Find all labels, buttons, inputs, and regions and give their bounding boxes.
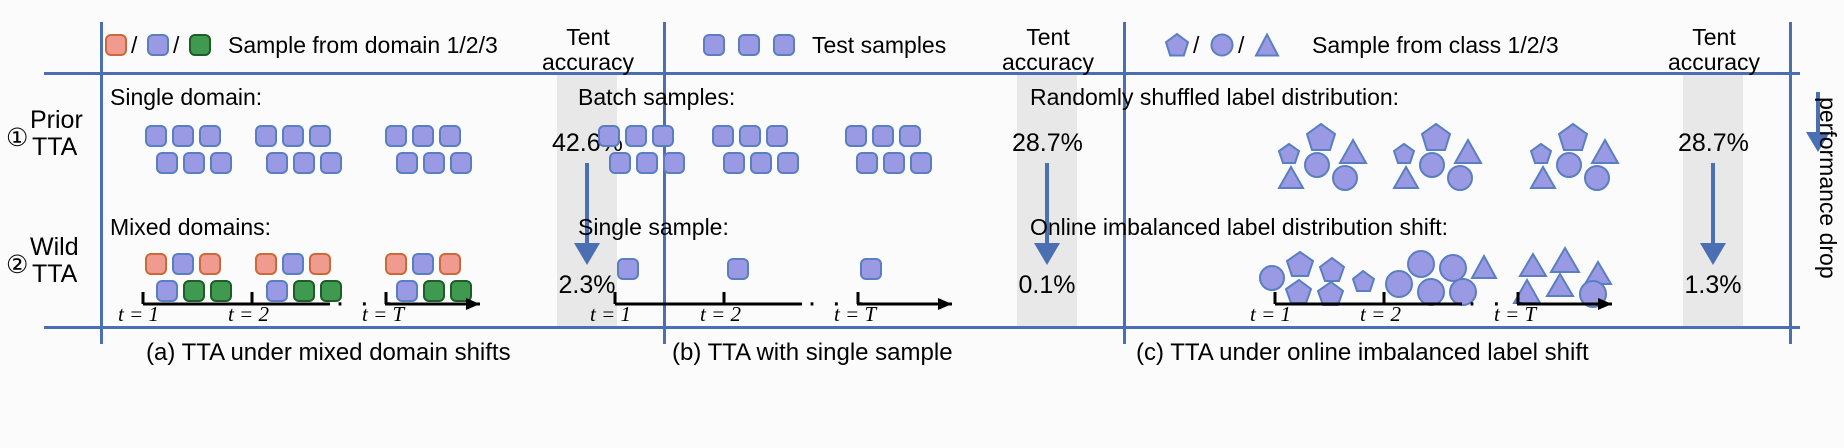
legend-label-a: Sample from domain 1/2/3 <box>228 33 498 57</box>
accuracy-header-b-line2: accuracy <box>999 50 1097 74</box>
panel-b-row2-sample-t2 <box>727 258 749 280</box>
panel-a-row1-title: Single domain: <box>110 85 262 109</box>
panel-b-row1-title: Batch samples: <box>578 85 735 109</box>
row-label-prior-line1: Prior <box>30 107 83 133</box>
legend-separator-a2: / <box>173 33 179 57</box>
panel-c-caption: (c) TTA under online imbalanced label sh… <box>1136 340 1589 365</box>
panel-b-row2-sample-t1 <box>617 258 639 280</box>
panel-c-tick-t2: t = 2 <box>1360 303 1401 325</box>
accuracy-header-b-line1: Tent <box>1020 25 1076 49</box>
panel-c-row2-title: Online imbalanced label distribution shi… <box>1030 215 1448 239</box>
legend-swatch-test1 <box>703 34 725 56</box>
panel-c-row1-cluster-tT <box>1517 120 1635 192</box>
row-marker-wild: ② <box>6 252 28 278</box>
divider-left <box>100 22 103 344</box>
row-label-wild-line2: TTA <box>32 261 77 287</box>
accuracy-header-a-line2: accuracy <box>539 50 637 74</box>
panel-a-timeline <box>140 288 500 310</box>
rule-top <box>44 72 1800 75</box>
row-label-wild-line1: Wild <box>30 234 79 260</box>
legend-separator-c1: / <box>1193 33 1199 57</box>
legend-swatch-test2 <box>738 34 760 56</box>
accuracy-header-c-line1: Tent <box>1686 25 1742 49</box>
panel-b-row2-sample-tT <box>860 258 882 280</box>
panel-b-timeline <box>612 288 972 310</box>
legend-label-b: Test samples <box>812 33 946 57</box>
panel-a-row2-title: Mixed domains: <box>110 215 271 239</box>
accuracy-header-c-line2: accuracy <box>1665 50 1763 74</box>
legend-swatch-domain3 <box>189 34 211 56</box>
performance-drop-label: performance drop <box>1816 97 1840 257</box>
figure-root: ① Prior TTA ② Wild TTA / / Sample from d… <box>0 0 1844 448</box>
legend-shape-circle-icon <box>1209 32 1235 58</box>
panel-b-tick-tT: t = T <box>834 303 876 325</box>
panel-b-accuracy-after: 0.1% <box>1012 272 1082 298</box>
legend-separator-c2: / <box>1238 33 1244 57</box>
legend-shape-pentagon-icon <box>1164 32 1190 58</box>
divider-b-c <box>1123 22 1126 344</box>
row-marker-prior: ① <box>6 125 28 151</box>
row-label-prior-line2: TTA <box>32 134 77 160</box>
panel-c-row1-cluster-t1 <box>1265 120 1383 192</box>
accuracy-header-a-line1: Tent <box>560 25 616 49</box>
panel-a-tick-t1: t = 1 <box>118 303 159 325</box>
panel-a-caption: (a) TTA under mixed domain shifts <box>146 340 511 365</box>
panel-b-tick-t2: t = 2 <box>700 303 741 325</box>
rule-bottom <box>44 326 1800 329</box>
panel-c-row1-cluster-t2 <box>1380 120 1498 192</box>
panel-a-tick-t2: t = 2 <box>228 303 269 325</box>
panel-c-tick-tT: t = T <box>1494 303 1536 325</box>
legend-swatch-domain1 <box>105 34 127 56</box>
panel-c-drop-arrow <box>1696 163 1730 268</box>
panel-b-row2-title: Single sample: <box>578 215 729 239</box>
panel-b-accuracy-before: 28.7% <box>1012 130 1082 156</box>
legend-swatch-domain2 <box>147 34 169 56</box>
legend-swatch-test3 <box>773 34 795 56</box>
panel-c-accuracy-before: 28.7% <box>1678 130 1748 156</box>
panel-c-tick-t1: t = 1 <box>1250 303 1291 325</box>
panel-a-tick-tT: t = T <box>362 303 404 325</box>
panel-c-accuracy-after: 1.3% <box>1678 272 1748 298</box>
legend-label-c: Sample from class 1/2/3 <box>1312 33 1559 57</box>
legend-shape-triangle-icon <box>1254 32 1280 58</box>
panel-b-tick-t1: t = 1 <box>590 303 631 325</box>
panel-b-caption: (b) TTA with single sample <box>672 340 953 365</box>
legend-separator-a1: / <box>131 33 137 57</box>
panel-c-timeline <box>1272 288 1632 310</box>
divider-c-right <box>1789 22 1792 344</box>
panel-c-row1-title: Randomly shuffled label distribution: <box>1030 85 1399 109</box>
